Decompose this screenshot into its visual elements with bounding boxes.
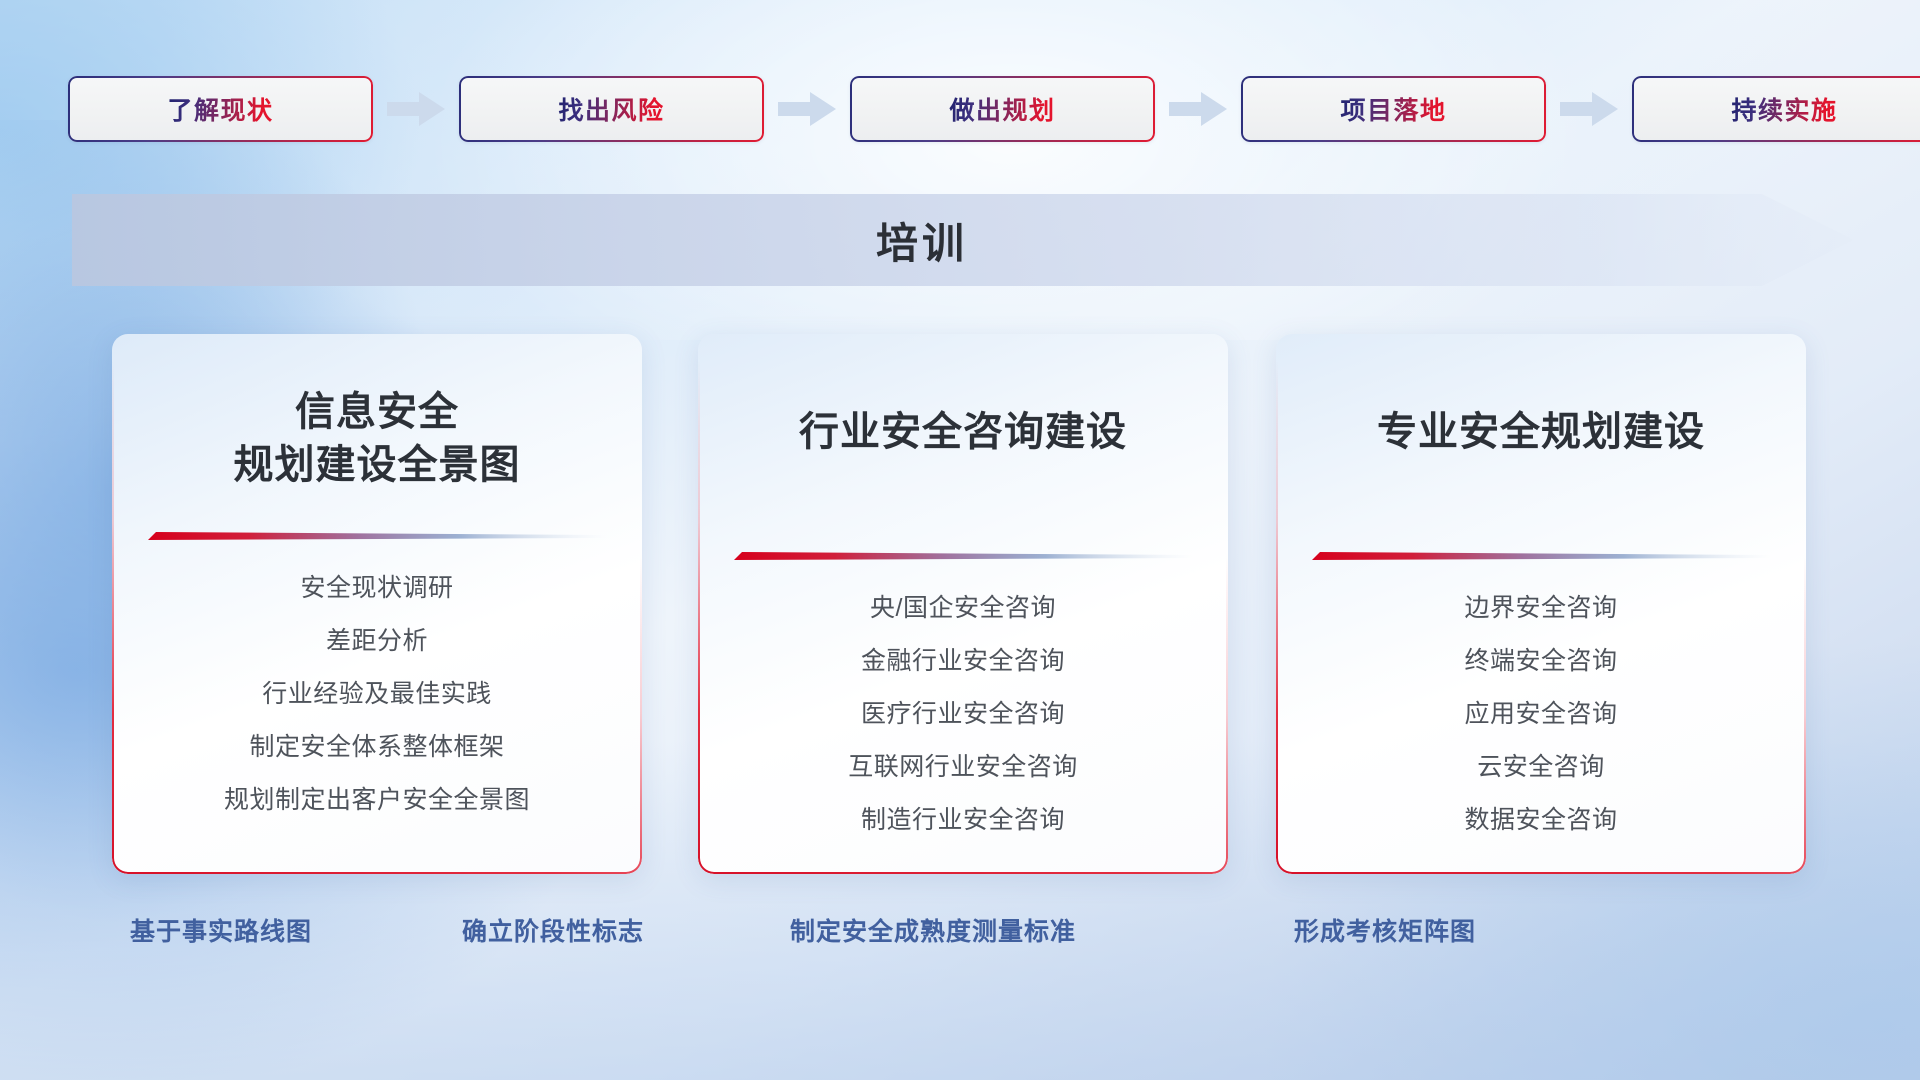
process-step-label: 了解现状 bbox=[167, 91, 273, 127]
process-step-label: 项目落地 bbox=[1340, 91, 1446, 127]
right-arrow-icon bbox=[387, 92, 445, 126]
list-item: 安全现状调研 bbox=[132, 576, 622, 601]
list-item: 央/国企安全咨询 bbox=[718, 596, 1208, 621]
footnote-label: 形成考核矩阵图 bbox=[1294, 912, 1476, 948]
card-title: 行业安全咨询建设 bbox=[698, 334, 1228, 524]
list-item: 制定安全体系整体框架 bbox=[132, 735, 622, 760]
list-item: 应用安全咨询 bbox=[1296, 702, 1786, 727]
banner-label: 培训 bbox=[72, 194, 1772, 286]
list-item: 医疗行业安全咨询 bbox=[718, 702, 1208, 727]
card-group: 信息安全 规划建设全景图 bbox=[0, 334, 1920, 886]
list-item: 边界安全咨询 bbox=[1296, 596, 1786, 621]
list-item: 差距分析 bbox=[132, 629, 622, 654]
list-item: 数据安全咨询 bbox=[1296, 808, 1786, 833]
card-item-list: 边界安全咨询 终端安全咨询 应用安全咨询 云安全咨询 数据安全咨询 bbox=[1276, 562, 1806, 833]
card-title-line: 规划建设全景图 bbox=[138, 439, 616, 492]
right-arrow-icon bbox=[1560, 92, 1618, 126]
card-item-list: 安全现状调研 差距分析 行业经验及最佳实践 制定安全体系整体框架 规划制定出客户… bbox=[112, 542, 642, 813]
background-glow-top bbox=[420, 0, 1600, 340]
process-step-label: 做出规划 bbox=[949, 91, 1055, 127]
card-divider bbox=[1312, 550, 1770, 562]
card-title-line: 专业安全规划建设 bbox=[1302, 406, 1780, 459]
right-arrow-icon bbox=[1169, 92, 1227, 126]
card-industry-security-consulting[interactable]: 行业安全咨询建设 bbox=[698, 334, 1228, 874]
list-item: 规划制定出客户安全全景图 bbox=[132, 788, 622, 813]
process-step-label: 找出风险 bbox=[558, 91, 664, 127]
card-title-line: 行业安全咨询建设 bbox=[724, 406, 1202, 459]
process-step-3[interactable]: 做出规划 bbox=[850, 76, 1155, 142]
card-title: 信息安全 规划建设全景图 bbox=[112, 334, 642, 504]
list-item: 行业经验及最佳实践 bbox=[132, 682, 622, 707]
card-title-line: 信息安全 bbox=[138, 386, 616, 439]
process-step-label: 持续实施 bbox=[1731, 91, 1837, 127]
right-arrow-icon bbox=[778, 92, 836, 126]
footnote-label: 制定安全成熟度测量标准 bbox=[790, 912, 1076, 948]
list-item: 云安全咨询 bbox=[1296, 755, 1786, 780]
card-title: 专业安全规划建设 bbox=[1276, 334, 1806, 524]
footnote-row: 基于事实路线图 确立阶段性标志 制定安全成熟度测量标准 形成考核矩阵图 bbox=[0, 912, 1920, 972]
list-item: 制造行业安全咨询 bbox=[718, 808, 1208, 833]
card-item-list: 央/国企安全咨询 金融行业安全咨询 医疗行业安全咨询 互联网行业安全咨询 制造行… bbox=[698, 562, 1228, 833]
footnote-label: 确立阶段性标志 bbox=[462, 912, 644, 948]
process-step-1[interactable]: 了解现状 bbox=[68, 76, 373, 142]
list-item: 互联网行业安全咨询 bbox=[718, 755, 1208, 780]
process-flow: 了解现状 找出风险 做出规划 项目落地 bbox=[68, 74, 1858, 144]
card-divider bbox=[734, 550, 1192, 562]
list-item: 终端安全咨询 bbox=[1296, 649, 1786, 674]
footnote-label: 基于事实路线图 bbox=[130, 912, 312, 948]
process-step-2[interactable]: 找出风险 bbox=[459, 76, 764, 142]
card-info-security-panorama[interactable]: 信息安全 规划建设全景图 bbox=[112, 334, 642, 874]
process-step-4[interactable]: 项目落地 bbox=[1241, 76, 1546, 142]
training-banner: 培训 bbox=[72, 194, 1854, 286]
list-item: 金融行业安全咨询 bbox=[718, 649, 1208, 674]
slide-canvas: 了解现状 找出风险 做出规划 项目落地 bbox=[0, 0, 1920, 1080]
process-step-5[interactable]: 持续实施 bbox=[1632, 76, 1920, 142]
card-professional-security-planning[interactable]: 专业安全规划建设 bbox=[1276, 334, 1806, 874]
card-divider bbox=[148, 530, 606, 542]
